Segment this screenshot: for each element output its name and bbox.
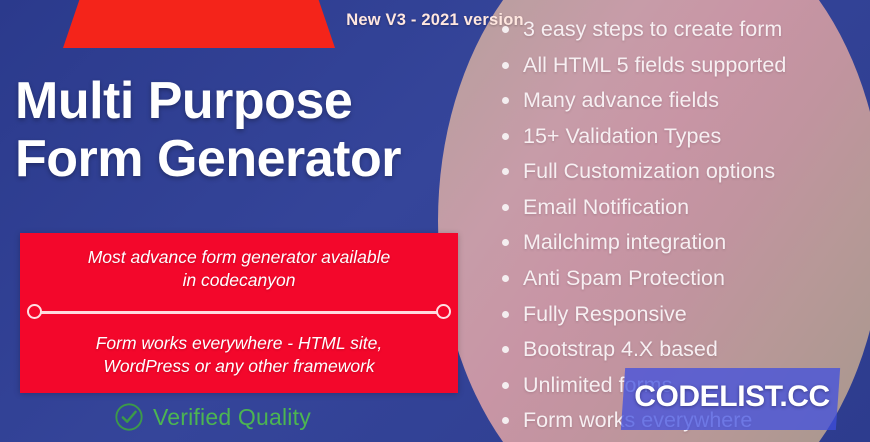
info-card-top-line-2: in codecanyon <box>36 269 442 292</box>
page-title-line-2: Form Generator <box>15 130 475 188</box>
info-card-top-text: Most advance form generator available in… <box>20 233 458 292</box>
check-circle-icon <box>114 402 144 432</box>
divider-knob-left <box>27 304 42 319</box>
watermark-label: CODELIST.CC <box>626 380 838 414</box>
divider-bar <box>34 311 444 314</box>
list-item: Anti Spam Protection <box>497 261 867 297</box>
info-card-bottom-text: Form works everywhere - HTML site, WordP… <box>20 321 458 378</box>
info-card: Most advance form generator available in… <box>20 233 458 393</box>
list-item: 15+ Validation Types <box>497 119 867 155</box>
list-item: Email Notification <box>497 190 867 226</box>
list-item: Many advance fields <box>497 83 867 119</box>
verified-quality-badge: Verified Quality <box>114 402 311 432</box>
list-item: Full Customization options <box>497 154 867 190</box>
page-title: Multi Purpose Form Generator <box>15 72 475 188</box>
info-card-bottom-line-1: Form works everywhere - HTML site, <box>36 332 442 355</box>
info-card-divider <box>20 303 458 321</box>
list-item: Bootstrap 4.X based <box>497 332 867 368</box>
list-item: All HTML 5 fields supported <box>497 48 867 84</box>
divider-knob-right <box>436 304 451 319</box>
promo-banner: New V3 - 2021 version Multi Purpose Form… <box>0 0 870 442</box>
page-title-line-1: Multi Purpose <box>15 72 475 130</box>
list-item: 3 easy steps to create form <box>497 12 867 48</box>
list-item: Mailchimp integration <box>497 225 867 261</box>
info-card-bottom-line-2: WordPress or any other framework <box>36 355 442 378</box>
list-item: Fully Responsive <box>497 297 867 333</box>
verified-quality-label: Verified Quality <box>153 404 311 431</box>
info-card-top-line-1: Most advance form generator available <box>36 246 442 269</box>
